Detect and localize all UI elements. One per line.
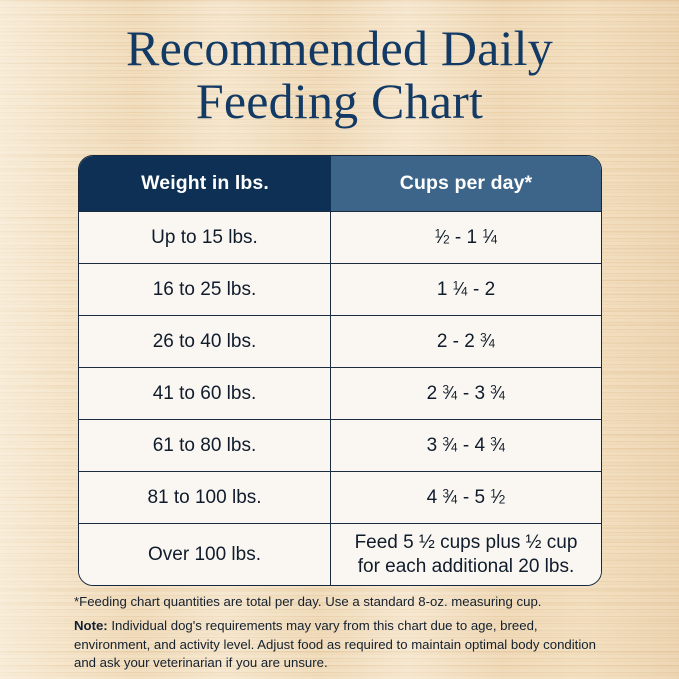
fraction-value: 2 - 2 3⁄4 [437, 331, 495, 353]
table-row: 26 to 40 lbs. 2 - 2 3⁄4 [79, 315, 601, 367]
cell-weight: Over 100 lbs. [79, 524, 331, 585]
cell-weight: 16 to 25 lbs. [79, 264, 331, 315]
table-row: 61 to 80 lbs. 3 3⁄4 - 4 3⁄4 [79, 419, 601, 471]
footnotes: *Feeding chart quantities are total per … [74, 592, 614, 673]
feeding-table: Weight in lbs. Cups per day* Up to 15 lb… [78, 155, 602, 586]
fraction-value: 3 3⁄4 - 4 3⁄4 [427, 435, 506, 457]
fraction-value: 2 3⁄4 - 3 3⁄4 [427, 383, 506, 405]
footnote-note: Note: Individual dog's requirements may … [74, 617, 614, 673]
table-row: 16 to 25 lbs. 1 1⁄4 - 2 [79, 263, 601, 315]
fraction-value: 1 1⁄4 - 2 [437, 279, 495, 301]
cell-cups: 2 3⁄4 - 3 3⁄4 [331, 368, 601, 419]
table-row: Over 100 lbs. Feed 5 ½ cups plus ½ cup f… [79, 523, 601, 585]
cell-weight: 26 to 40 lbs. [79, 316, 331, 367]
cell-cups: 3 3⁄4 - 4 3⁄4 [331, 420, 601, 471]
cell-cups: 2 - 2 3⁄4 [331, 316, 601, 367]
feeding-chart-page: Recommended Daily Feeding Chart Weight i… [0, 0, 679, 679]
cell-cups: 1⁄2 - 1 1⁄4 [331, 212, 601, 263]
page-title-line-2: Feeding Chart [0, 75, 679, 128]
cell-cups-line-1: Feed 5 ½ cups plus ½ cup [355, 532, 578, 553]
page-title: Recommended Daily Feeding Chart [0, 22, 679, 128]
fraction-value: 4 3⁄4 - 5 1⁄2 [427, 487, 506, 509]
footnote-note-text: Individual dog's requirements may vary f… [74, 618, 596, 670]
cell-cups-line-2: for each additional 20 lbs. [358, 556, 575, 577]
table-row: 81 to 100 lbs. 4 3⁄4 - 5 1⁄2 [79, 471, 601, 523]
page-title-line-1: Recommended Daily [0, 22, 679, 75]
cell-weight: 61 to 80 lbs. [79, 420, 331, 471]
column-header-cups: Cups per day* [331, 156, 601, 211]
cell-cups: 1 1⁄4 - 2 [331, 264, 601, 315]
cell-cups: Feed 5 ½ cups plus ½ cup for each additi… [331, 524, 601, 585]
table-row: Up to 15 lbs. 1⁄2 - 1 1⁄4 [79, 211, 601, 263]
footnote-note-label: Note: [74, 618, 108, 633]
table-row: 41 to 60 lbs. 2 3⁄4 - 3 3⁄4 [79, 367, 601, 419]
cell-weight: Up to 15 lbs. [79, 212, 331, 263]
table-header-row: Weight in lbs. Cups per day* [79, 156, 601, 211]
cell-weight: 41 to 60 lbs. [79, 368, 331, 419]
cell-cups: 4 3⁄4 - 5 1⁄2 [331, 472, 601, 523]
footnote-asterisk: *Feeding chart quantities are total per … [74, 592, 614, 611]
fraction-value: 1⁄2 - 1 1⁄4 [435, 227, 498, 249]
column-header-weight: Weight in lbs. [79, 156, 331, 211]
cell-weight: 81 to 100 lbs. [79, 472, 331, 523]
